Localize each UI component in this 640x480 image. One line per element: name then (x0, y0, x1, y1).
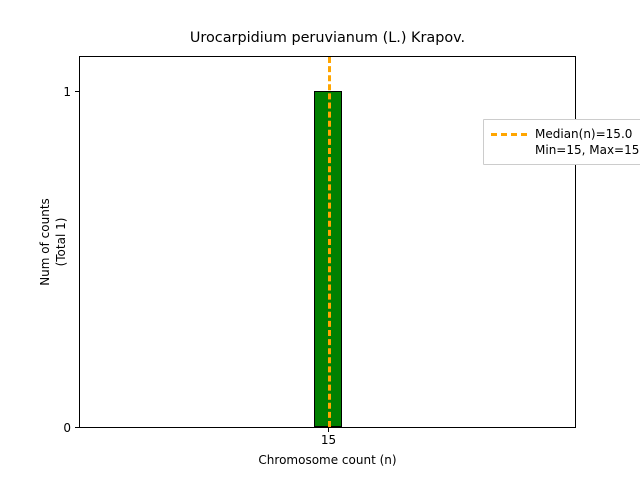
legend-label-median: Median(n)=15.0 (535, 127, 632, 141)
xtick-15: 15 (328, 427, 329, 432)
bars-layer (80, 57, 575, 427)
chart-figure: Urocarpidium peruvianum (L.) Krapov. 0 1… (0, 0, 640, 480)
legend-label-minmax: Min=15, Max=15 (535, 143, 639, 157)
y-axis-label-line1: Num of counts (38, 198, 54, 286)
chart-legend: Median(n)=15.0 Min=15, Max=15 (483, 119, 640, 165)
ytick-1: 1 (75, 91, 80, 92)
legend-entry-median: Median(n)=15.0 (491, 126, 639, 142)
legend-entry-minmax: Min=15, Max=15 (491, 142, 639, 158)
chart-title: Urocarpidium peruvianum (L.) Krapov. (79, 30, 576, 46)
y-axis-label: Num of counts (Total 1) (37, 56, 71, 428)
x-axis-label: Chromosome count (n) (79, 453, 576, 467)
ytick-0: 0 (75, 427, 80, 428)
median-line (328, 57, 331, 427)
xtick-label-15: 15 (321, 433, 336, 447)
y-axis-label-line2: (Total 1) (54, 218, 70, 267)
plot-area: 0 1 15 Median(n)=15.0 Min=15, Max=15 (79, 56, 576, 428)
legend-dashed-line-icon (491, 133, 527, 136)
